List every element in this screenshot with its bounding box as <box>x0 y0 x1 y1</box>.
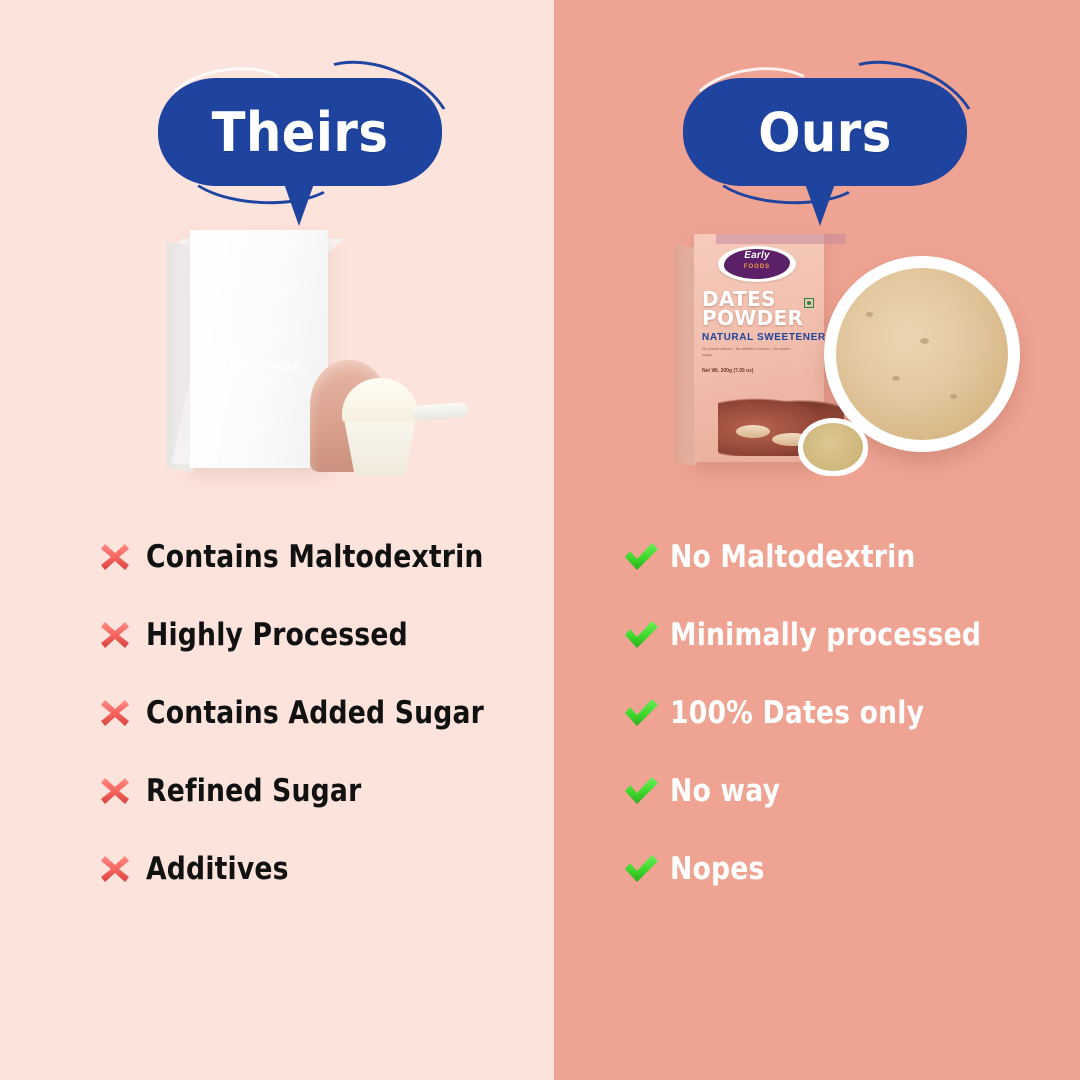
list-item: Highly Processed <box>84 596 534 674</box>
secondary-powder-contents <box>803 423 863 471</box>
heading-theirs: Theirs <box>169 78 430 186</box>
list-item-label: Contains Maltodextrin <box>146 539 484 575</box>
ours-feature-list: No Maltodextrin Minimally processed 100%… <box>612 518 1032 908</box>
list-item: Contains Added Sugar <box>84 674 534 752</box>
check-icon <box>612 540 670 574</box>
list-item-label: Refined Sugar <box>146 773 361 809</box>
dates-powder-product-image: Early FOODS DATES POWDER NATURAL SWEETEN… <box>672 228 1022 478</box>
check-icon <box>612 696 670 730</box>
list-item: Refined Sugar <box>84 752 534 830</box>
box-side-face <box>674 244 696 466</box>
stock-photo-watermark: Storyblocks <box>194 358 326 373</box>
powder-speck <box>866 312 873 317</box>
comparison-infographic: Theirs Ours Storyblocks <box>0 0 1080 1080</box>
list-item-label: Minimally processed <box>670 617 981 653</box>
brand-name: Early <box>724 250 790 261</box>
cross-icon <box>84 616 146 654</box>
box-top-lip <box>716 234 846 244</box>
list-item-label: No way <box>670 773 780 809</box>
powder-speck <box>892 376 900 381</box>
date-flesh <box>736 425 770 438</box>
product-subtitle: NATURAL SWEETENER <box>702 332 826 343</box>
check-icon <box>612 618 670 652</box>
list-item: 100% Dates only <box>612 674 1032 752</box>
theirs-feature-list: Contains Maltodextrin Highly Processed C… <box>84 518 534 908</box>
product-net-weight: Net Wt. 200g (7.05 oz) <box>702 368 753 374</box>
list-item: Additives <box>84 830 534 908</box>
cross-icon <box>84 694 146 732</box>
list-item: No Maltodextrin <box>612 518 1032 596</box>
list-item: No way <box>612 752 1032 830</box>
cross-icon <box>84 538 146 576</box>
list-item-label: Additives <box>146 851 289 887</box>
brand-subname: FOODS <box>724 264 790 270</box>
list-item: Nopes <box>612 830 1032 908</box>
competitor-product-image: Storyblocks <box>160 218 490 478</box>
powder-speck <box>920 338 929 344</box>
list-item-label: Highly Processed <box>146 617 408 653</box>
speech-bubble-ours: Ours <box>675 70 975 230</box>
secondary-powder-bowl <box>798 418 868 476</box>
powder-speck <box>950 394 957 399</box>
cross-icon <box>84 850 146 888</box>
list-item-label: Contains Added Sugar <box>146 695 484 731</box>
product-claims-text: No preservatives • No artificial colours… <box>702 346 798 358</box>
dates-powder-contents <box>836 268 1008 440</box>
scoop-handle <box>412 402 469 421</box>
list-item: Contains Maltodextrin <box>84 518 534 596</box>
check-icon <box>612 774 670 808</box>
check-icon <box>612 852 670 886</box>
list-item-label: Nopes <box>670 851 765 887</box>
product-title: DATES POWDER <box>702 290 822 328</box>
list-item-label: 100% Dates only <box>670 695 924 731</box>
list-item: Minimally processed <box>612 596 1032 674</box>
heading-ours: Ours <box>694 78 955 186</box>
cross-icon <box>84 772 146 810</box>
speech-bubble-theirs: Theirs <box>150 70 450 230</box>
list-item-label: No Maltodextrin <box>670 539 916 575</box>
